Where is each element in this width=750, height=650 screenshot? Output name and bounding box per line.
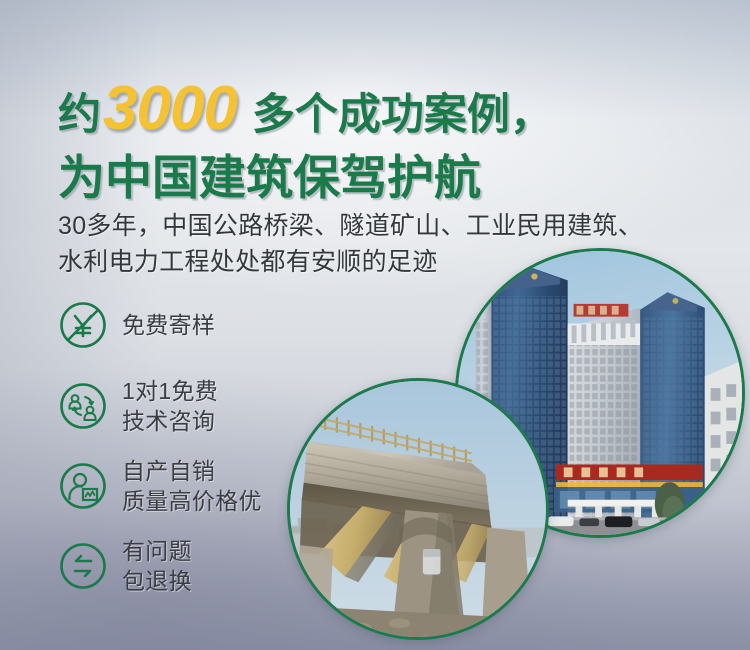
subtitle-line-1: 30多年，中国公路桥梁、隧道矿山、工业民用建筑、 (58, 208, 718, 244)
headline-line-2: 为中国建筑保驾护航 (58, 154, 698, 201)
feature-label-line: 免费寄样 (122, 312, 215, 338)
headline-prefix: 约 (58, 94, 101, 137)
feature-label-line: 包退换 (122, 566, 192, 596)
return-exchange-icon (58, 541, 108, 591)
headline: 约 3000 多个成功案例， 为中国建筑保驾护航 (58, 78, 698, 201)
feature-label: 1对1免费 技术咨询 (122, 376, 218, 437)
feature-label-line: 自产自销 (122, 456, 262, 486)
feature-item-return-exchange[interactable]: 有问题 包退换 (58, 534, 388, 598)
headline-number: 3000 (103, 78, 237, 140)
feature-item-consultation[interactable]: 1对1免费 技术咨询 (58, 374, 388, 438)
feature-item-free-sample[interactable]: 免费寄样 (58, 296, 388, 354)
feature-label-line: 有问题 (122, 536, 192, 566)
self-produce-sell-icon (58, 461, 108, 511)
promo-banner: 约 3000 多个成功案例， 为中国建筑保驾护航 30多年，中国公路桥梁、隧道矿… (0, 0, 750, 650)
one-on-one-consult-icon (58, 381, 108, 431)
feature-label: 有问题 包退换 (122, 536, 192, 597)
feature-item-self-production[interactable]: 自产自销 质量高价格优 (58, 454, 388, 518)
no-fee-yuan-icon (58, 300, 108, 350)
headline-line-1: 约 3000 多个成功案例， (58, 78, 698, 142)
feature-label-line: 1对1免费 (122, 376, 218, 406)
feature-list: 免费寄样 (58, 296, 388, 614)
feature-label-line: 质量高价格优 (122, 486, 262, 516)
feature-label: 自产自销 质量高价格优 (122, 456, 262, 517)
feature-label: 免费寄样 (122, 310, 215, 340)
headline-suffix: 多个成功案例， (252, 94, 553, 137)
feature-label-line: 技术咨询 (122, 406, 218, 436)
